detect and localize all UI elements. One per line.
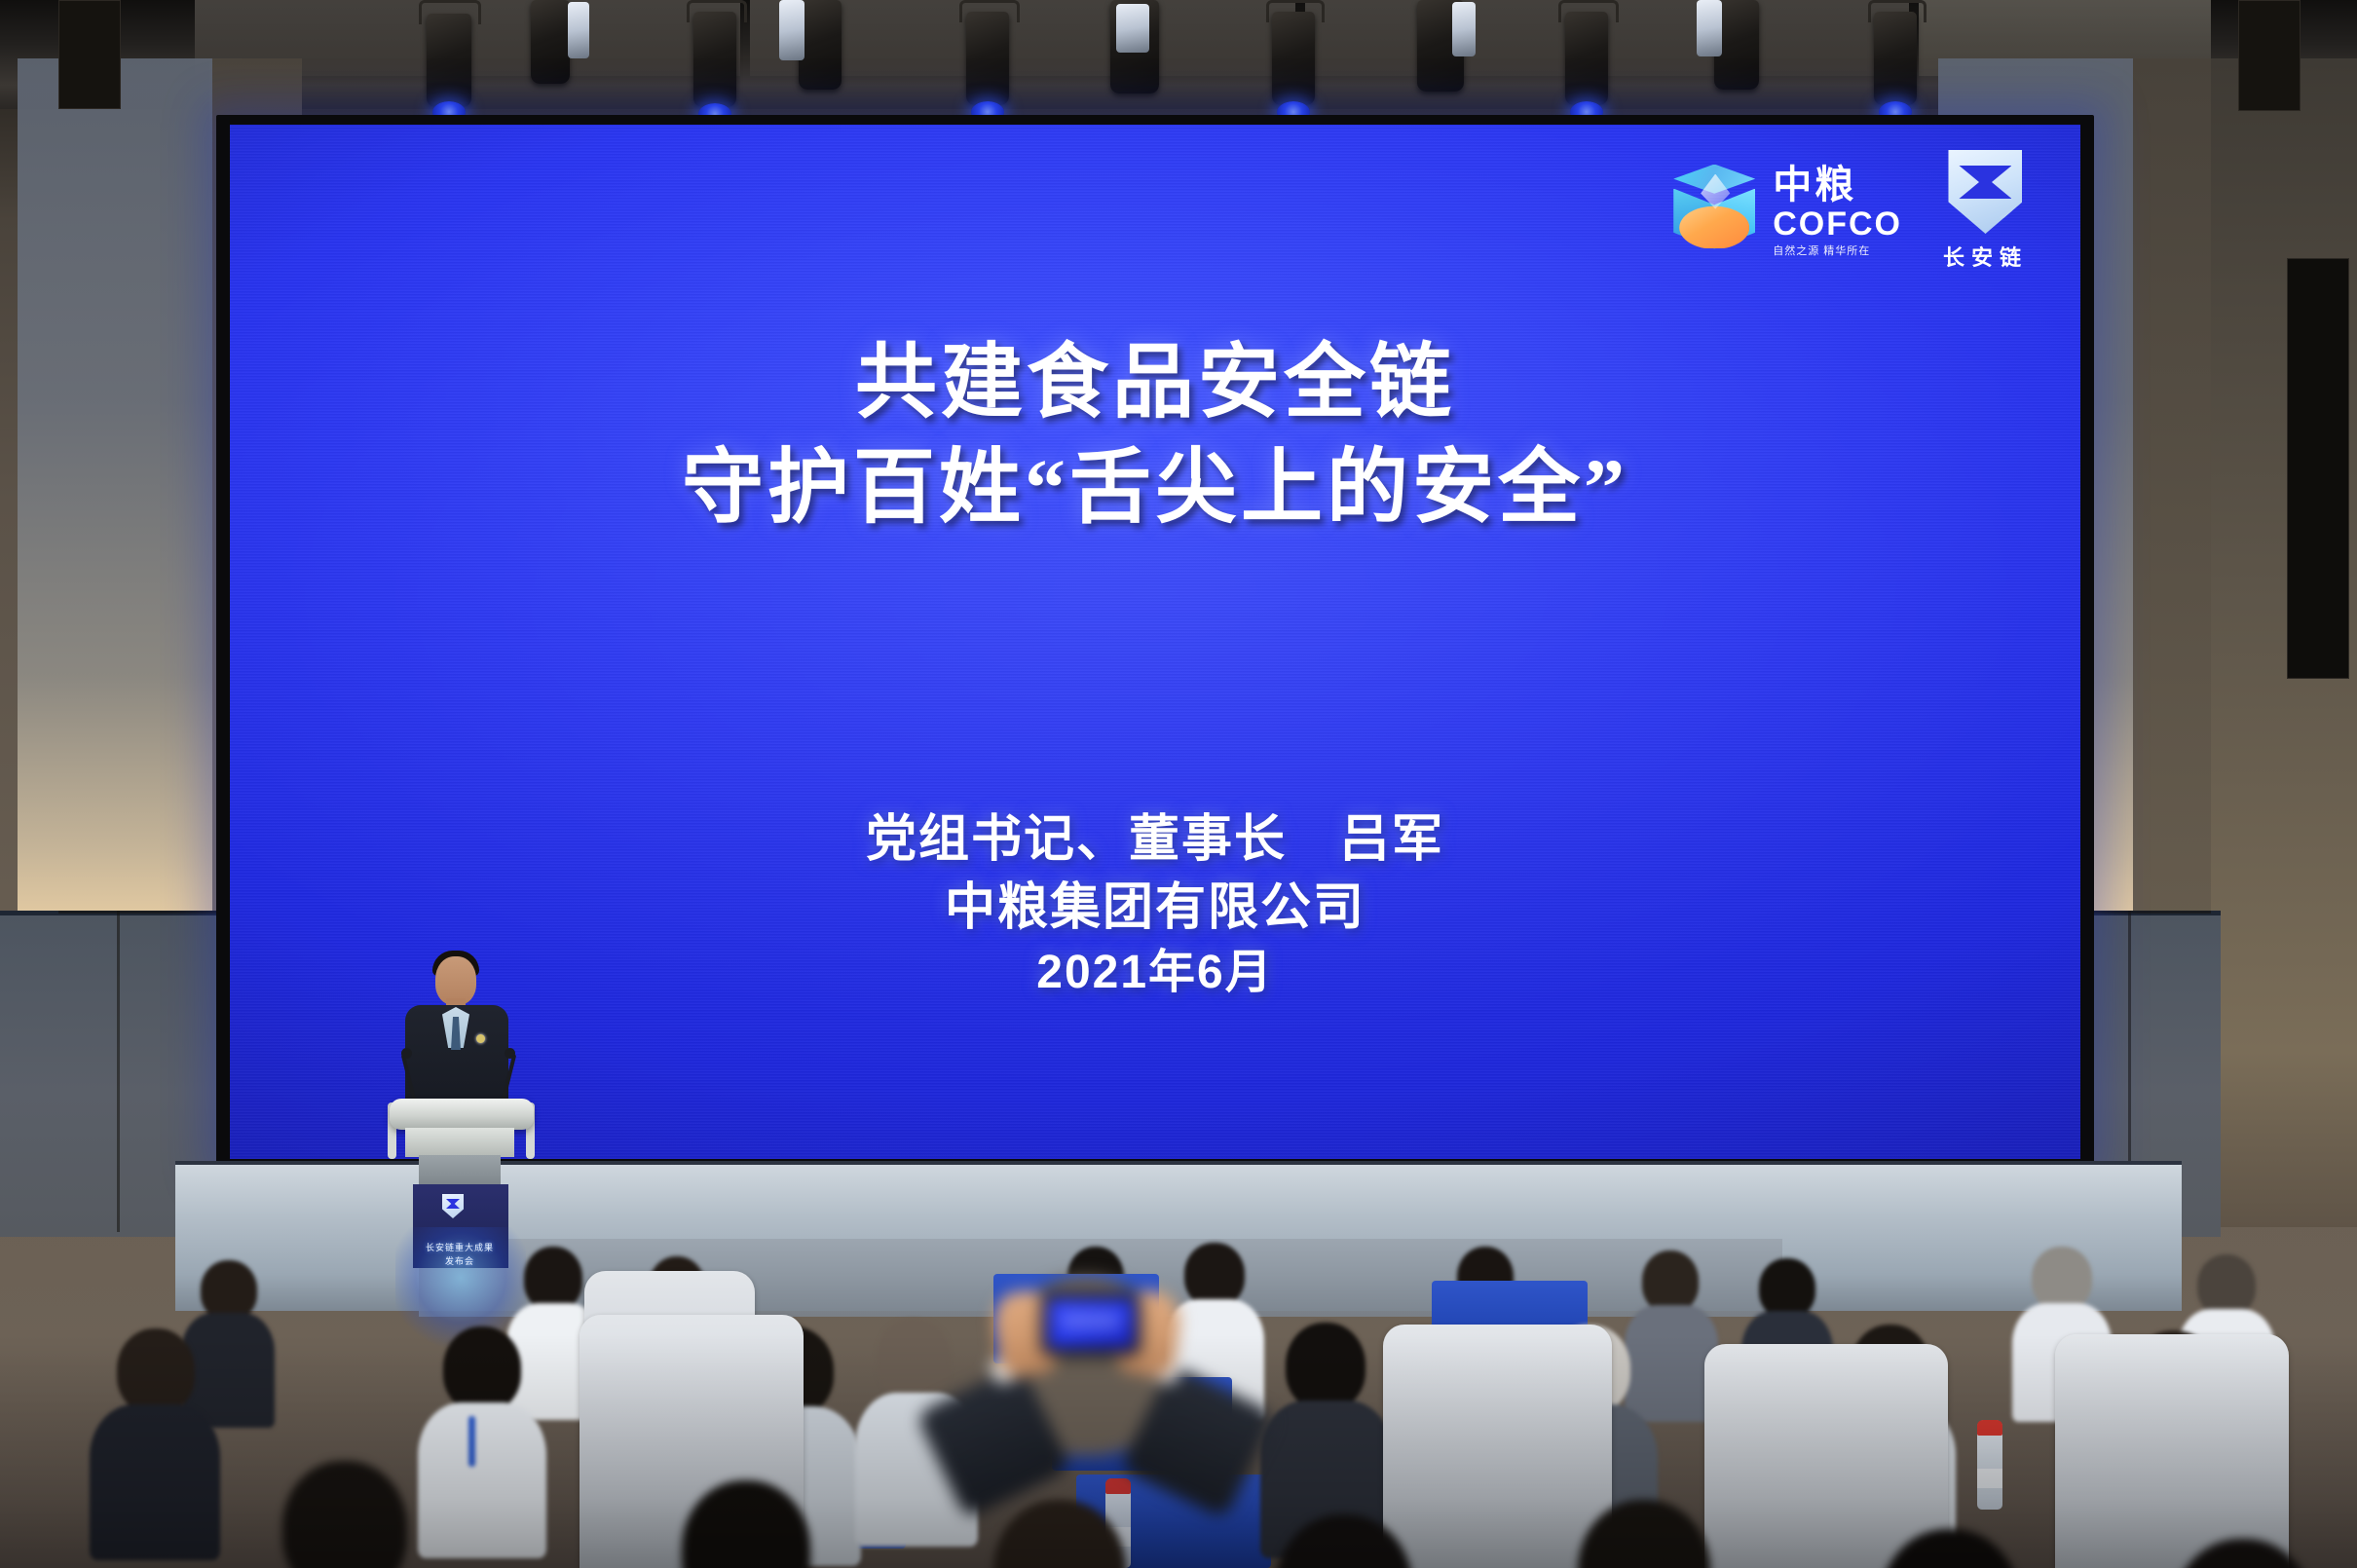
microphone-head-left <box>401 1048 412 1059</box>
cofco-english-name: COFCO <box>1773 207 1902 241</box>
water-bottle <box>1977 1420 2002 1510</box>
slide-logo-row: 中粮 COFCO 自然之源 精华所在 长安链 <box>1669 150 2028 272</box>
head <box>1286 1323 1366 1410</box>
lamp-body <box>693 12 736 107</box>
torso <box>418 1402 546 1558</box>
cofco-tagline: 自然之源 精华所在 <box>1773 246 1870 257</box>
podium-plate <box>419 1155 501 1186</box>
head <box>524 1247 582 1311</box>
head <box>201 1260 257 1321</box>
shield-corner-notch <box>1999 205 2012 218</box>
cofco-logo: 中粮 COFCO 自然之源 精华所在 <box>1669 165 1902 258</box>
head <box>1184 1243 1245 1307</box>
bottle-cap <box>1105 1478 1131 1494</box>
cofco-cube-icon <box>1669 165 1759 258</box>
bottle-label <box>1977 1469 2002 1488</box>
head <box>2197 1254 2256 1317</box>
podium-shield-mark <box>446 1199 460 1209</box>
podium-banner-line-1: 长安链重大成果 <box>382 1241 538 1253</box>
head <box>877 1319 951 1400</box>
changanchain-wordmark: 长安链 <box>1943 241 2028 272</box>
microphone-head-right <box>505 1048 515 1059</box>
lamp-reflector <box>1452 2 1476 56</box>
chair <box>1383 1325 1612 1568</box>
wall-seam-left-vertical <box>117 911 120 1232</box>
ceiling-speaker-right <box>2238 0 2301 111</box>
lamp-reflector <box>1697 0 1722 56</box>
speaker-lapel-pin <box>476 1034 485 1043</box>
phone-screen-content <box>1062 1313 1120 1329</box>
lamp-reflector <box>779 0 804 60</box>
slide-subtitle-speaker: 党组书记、董事长 吕军 <box>230 806 2080 875</box>
wall-seam-left <box>58 911 224 914</box>
lamp-body <box>1565 12 1608 105</box>
lamp-body <box>1874 12 1917 105</box>
conference-stage-photo: 中粮 COFCO 自然之源 精华所在 长安链 共建食品安全链 守护百姓“舌尖上的… <box>0 0 2357 1568</box>
slide-title: 共建食品安全链 守护百姓“舌尖上的安全” <box>230 331 2080 541</box>
bottle-cap <box>1977 1420 2002 1436</box>
lamp-body <box>531 0 570 84</box>
phone-screen-preview <box>1048 1299 1134 1348</box>
cofco-wordmark: 中粮 COFCO 自然之源 精华所在 <box>1773 166 1902 257</box>
head <box>1642 1251 1699 1313</box>
podium-neck <box>405 1128 514 1157</box>
lamp-reflector <box>568 2 589 58</box>
podium-and-speaker: 长安链重大成果 发布会 <box>382 945 538 1266</box>
lamp-reflector <box>1116 4 1149 53</box>
chair <box>2055 1334 2289 1568</box>
shield-icon <box>1948 150 2022 234</box>
chair <box>1704 1344 1948 1568</box>
lamp-body <box>1272 12 1315 105</box>
head <box>443 1326 521 1412</box>
lamp-body <box>799 0 842 90</box>
wall-left-lit-panel <box>18 58 212 915</box>
lanyard <box>468 1416 475 1467</box>
cofco-chinese-name: 中粮 <box>1773 166 1856 205</box>
torso <box>90 1404 220 1560</box>
wall-speaker-right <box>2287 258 2349 679</box>
changanchain-logo: 长安链 <box>1943 150 2028 272</box>
podium-banner-line-2: 发布会 <box>382 1254 538 1267</box>
head <box>2032 1247 2092 1311</box>
slide-subtitle-company: 中粮集团有限公司 <box>230 875 2080 943</box>
podium-desktop <box>390 1099 534 1130</box>
smartphone[interactable] <box>1042 1293 1140 1354</box>
lamp-body <box>427 14 471 107</box>
ceiling-speaker-left <box>58 0 121 109</box>
shield-bowtie-mark <box>1959 166 2011 199</box>
head <box>1759 1258 1815 1319</box>
lamp-body <box>966 12 1009 105</box>
slide-title-line-1: 共建食品安全链 <box>230 331 2080 436</box>
slide-title-line-2: 守护百姓“舌尖上的安全” <box>230 436 2080 541</box>
head <box>117 1328 195 1414</box>
